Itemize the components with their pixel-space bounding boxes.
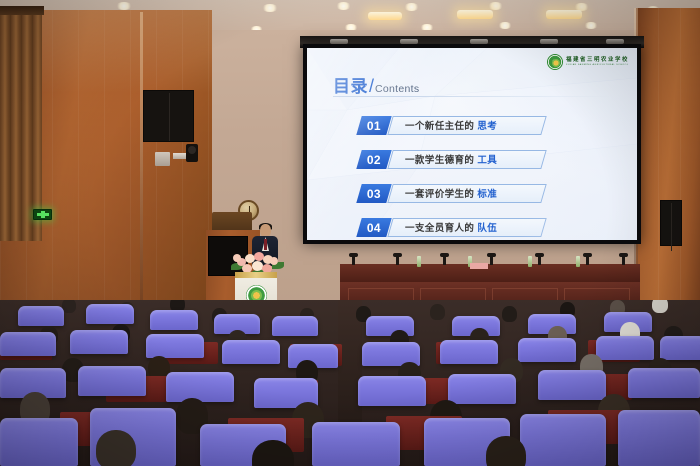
- contents-item-accent: 队伍: [477, 223, 497, 234]
- contents-item-number-label: 04: [367, 221, 381, 235]
- auditorium-seat: [166, 372, 234, 402]
- surveillance-camera-icon: [186, 144, 198, 162]
- auditorium-seat: [70, 330, 128, 354]
- ceiling-downlight: [488, 2, 503, 10]
- audience-head: [430, 304, 445, 320]
- auditorium-seat: [628, 368, 700, 398]
- ceiling-downlight: [404, 3, 419, 11]
- contents-item-prefix: 一支全员育人的: [405, 223, 474, 234]
- contents-item-number: 03: [356, 184, 391, 203]
- head-table: [340, 264, 640, 282]
- table-microphone: [490, 256, 493, 265]
- water-bottle: [528, 256, 532, 267]
- exit-running-glyph: [37, 211, 49, 218]
- slide-title-separator: /: [369, 76, 374, 97]
- contents-item-number-label: 02: [367, 153, 381, 167]
- auditorium-seat: [440, 340, 498, 364]
- audience-head: [502, 306, 517, 322]
- auditorium-scene: 福建省三明农业学校 FUJIAN SANMING AGRICULTURAL SC…: [0, 0, 700, 466]
- ceiling-downlight: [116, 2, 132, 10]
- table-microphone: [538, 256, 541, 265]
- auditorium-seat: [272, 316, 318, 336]
- audience-head: [652, 300, 668, 313]
- table-microphone: [352, 256, 355, 265]
- projection-screen: 福建省三明农业学校 FUJIAN SANMING AGRICULTURAL SC…: [307, 48, 637, 240]
- auditorium-seat: [146, 334, 204, 358]
- auditorium-seat: [520, 414, 606, 466]
- contents-item-accent: 工具: [477, 155, 497, 166]
- contents-item-number: 02: [356, 150, 391, 169]
- contents-item-prefix: 一款学生德育的: [405, 155, 474, 166]
- ceiling-downlight: [262, 4, 278, 12]
- contents-item-accent: 标准: [477, 189, 497, 200]
- flower-petal: [270, 257, 278, 265]
- stage-curtain: [0, 6, 42, 241]
- auditorium-seat: [86, 304, 134, 324]
- flower-petal: [233, 254, 241, 262]
- lectern-gold-band: [235, 272, 277, 278]
- table-microphone: [396, 256, 399, 265]
- auditorium-seat: [660, 336, 700, 360]
- wall-vent-panel: [143, 90, 194, 142]
- contents-item-number: 04: [356, 218, 391, 237]
- auditorium-seat: [0, 418, 78, 466]
- name-placard: [470, 263, 488, 269]
- school-name-cn: 福建省三明农业学校: [566, 58, 629, 64]
- auditorium-seat: [538, 370, 606, 400]
- right-wall-paneling: [636, 8, 700, 338]
- contents-item-prefix: 一套评价学生的: [405, 189, 474, 200]
- water-bottle: [417, 256, 421, 267]
- slide-title: 目录 / Contents: [333, 72, 419, 97]
- table-microphone: [622, 256, 625, 265]
- contents-item-text: 一支全员育人的 队伍: [405, 220, 497, 234]
- auditorium-seat: [618, 410, 700, 466]
- contents-item-text: 一套评价学生的 标准: [405, 186, 497, 200]
- auditorium-seat: [222, 340, 280, 364]
- ceiling-downlight: [498, 22, 512, 29]
- audience-head: [62, 300, 76, 313]
- slide-title-cn: 目录: [333, 72, 368, 97]
- audience-head: [96, 430, 136, 466]
- contents-item: 04 一支全员育人的 队伍: [359, 216, 609, 240]
- table-microphone: [443, 256, 446, 265]
- emergency-exit-icon: [33, 209, 52, 220]
- audience-head: [486, 436, 526, 466]
- slide-contents-list: 01 一个新任主任的 思考 02 一款学生德育的 工具: [359, 114, 609, 240]
- slide-title-underline: [333, 96, 611, 97]
- ceiling-panel-light: [368, 12, 402, 20]
- water-bottle: [576, 256, 580, 267]
- ceiling-panel-light: [457, 10, 493, 19]
- school-crest-icon: [547, 54, 563, 70]
- auditorium-seat: [518, 338, 576, 362]
- auditorium-seat: [0, 332, 56, 356]
- contents-item-number-label: 01: [367, 119, 381, 133]
- auditorium-seat: [150, 310, 198, 330]
- auditorium-seat: [358, 376, 426, 406]
- contents-item-accent: 思考: [477, 121, 497, 132]
- wall-corner-edge: [140, 12, 143, 330]
- auditorium-seat: [312, 422, 400, 466]
- wall-light-switch: [173, 153, 186, 159]
- auditorium-seat: [18, 306, 64, 326]
- contents-item-prefix: 一个新任主任的: [405, 121, 474, 132]
- contents-item: 01 一个新任主任的 思考: [359, 114, 609, 142]
- auditorium-seat: [596, 336, 654, 360]
- curtain-rail: [0, 6, 44, 15]
- wall-control-plate: [155, 152, 170, 166]
- slide-title-en: Contents: [375, 83, 419, 95]
- contents-item: 02 一款学生德育的 工具: [359, 148, 609, 176]
- contents-item-text: 一个新任主任的 思考: [405, 118, 497, 132]
- auditorium-seat: [78, 366, 146, 396]
- right-wall-vent: [660, 200, 682, 246]
- slide-logo: 福建省三明农业学校 FUJIAN SANMING AGRICULTURAL SC…: [547, 54, 629, 70]
- table-microphone: [586, 256, 589, 265]
- ceiling-panel-light: [546, 10, 582, 19]
- contents-item-text: 一款学生德育的 工具: [405, 152, 497, 166]
- contents-item-number: 01: [356, 116, 391, 135]
- audience-seating: [0, 300, 700, 466]
- school-name-en: FUJIAN SANMING AGRICULTURAL SCHOOL: [566, 64, 629, 66]
- ceiling-downlight: [336, 2, 351, 10]
- auditorium-seat: [448, 374, 516, 404]
- contents-item-number-label: 03: [367, 187, 381, 201]
- contents-item: 03 一套评价学生的 标准: [359, 182, 609, 210]
- ceiling-downlight: [584, 22, 598, 29]
